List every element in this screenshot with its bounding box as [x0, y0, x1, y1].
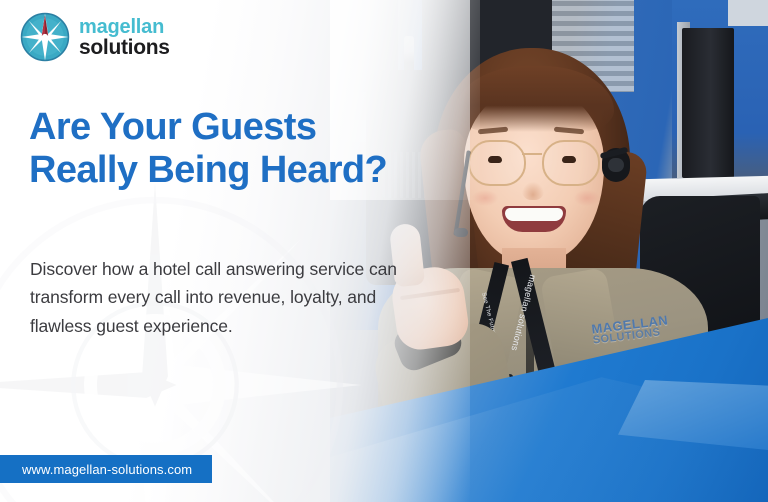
eye-left: [488, 156, 502, 163]
glasses-bridge: [522, 153, 542, 155]
computer-tower: [682, 28, 734, 178]
office-wall-accent: [728, 0, 768, 26]
brand-logo-wordmark: magellan solutions: [79, 17, 170, 58]
website-url-text: www.magellan-solutions.com: [22, 462, 192, 477]
nose: [522, 182, 544, 200]
subtext: Discover how a hotel call answering serv…: [30, 255, 402, 340]
lens-right: [542, 140, 600, 186]
marketing-banner: See The Future Your Way magellan solutio…: [0, 0, 768, 502]
eye-right: [562, 156, 576, 163]
brand-word-solutions: solutions: [79, 37, 170, 58]
compass-rose-icon: [20, 12, 70, 62]
eyeglasses: [466, 140, 602, 182]
teeth: [505, 208, 563, 221]
headline: Are Your Guests Really Being Heard?: [29, 106, 429, 192]
website-url-bar[interactable]: www.magellan-solutions.com: [0, 455, 212, 483]
brand-word-magellan: magellan: [79, 17, 170, 37]
brand-logo[interactable]: magellan solutions: [20, 12, 170, 62]
cheek-right: [574, 190, 600, 206]
smiling-mouth: [502, 206, 566, 232]
